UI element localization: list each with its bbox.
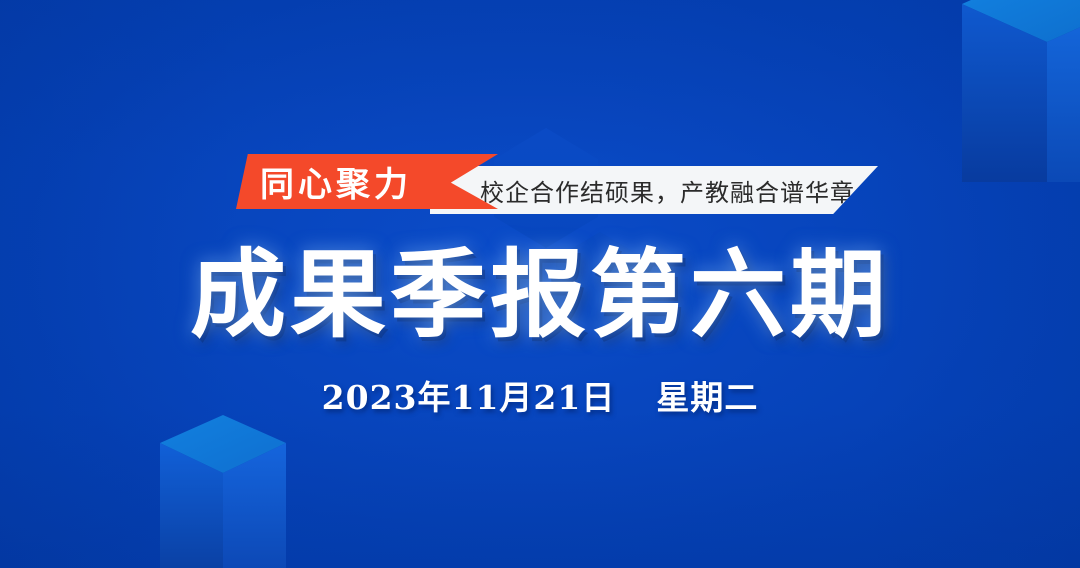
isometric-cube-icon bbox=[962, 0, 1080, 182]
dateline-weekday: 星期二 bbox=[656, 378, 758, 417]
isometric-cube-icon bbox=[160, 415, 286, 568]
poster-banner: 校企合作结硕果，产教融合谱华章 同心聚力 成果季报第六期 2023年11月21日… bbox=[0, 0, 1080, 568]
dateline: 2023年11月21日 星期二 bbox=[0, 371, 1080, 419]
page-title: 成果季报第六期 bbox=[0, 244, 1080, 346]
dateline-date: 2023年11月21日 bbox=[322, 378, 616, 417]
